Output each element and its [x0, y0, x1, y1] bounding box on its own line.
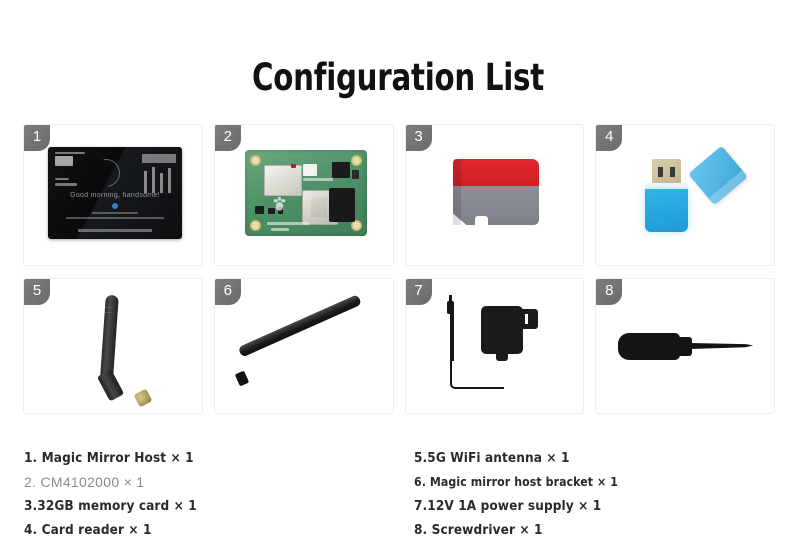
sma-connector	[134, 389, 153, 408]
legend-right-column: 5.5G WiFi antenna × 1 6. Magic mirror ho…	[398, 446, 796, 542]
raspberry-pi-logo-icon	[272, 196, 287, 213]
card-row-1: 1 Go	[23, 124, 775, 266]
rf-shield	[264, 165, 302, 196]
power-supply-image	[406, 279, 584, 413]
product-card-host-bracket[interactable]: 6	[214, 278, 394, 414]
memory-card-image	[406, 125, 584, 265]
configuration-list-page: Configuration List 1	[0, 0, 796, 560]
product-card-power-supply[interactable]: 7	[405, 278, 585, 414]
reader-body	[645, 189, 688, 232]
product-card-grid: 1 Go	[23, 124, 775, 414]
reader-cap	[688, 146, 748, 206]
legend-item-8: 8. Screwdriver × 1	[414, 518, 796, 542]
product-card-wifi-antenna[interactable]: 5	[23, 278, 203, 414]
product-card-compute-module[interactable]: 2	[214, 124, 394, 266]
product-card-memory-card[interactable]: 3	[405, 124, 585, 266]
compute-module-image	[215, 125, 393, 265]
legend-item-7: 7.12V 1A power supply × 1	[414, 494, 796, 518]
adapter-body	[481, 306, 523, 354]
antenna-base	[97, 369, 124, 401]
page-title: Configuration List	[48, 56, 748, 99]
legend-item-1: 1. Magic Mirror Host × 1	[24, 446, 398, 470]
configuration-legend: 1. Magic Mirror Host × 1 2. CM4102000 × …	[0, 446, 796, 542]
legend-item-3: 3.32GB memory card × 1	[24, 494, 398, 518]
product-card-screwdriver[interactable]: 8	[595, 278, 775, 414]
card-badge-6: 6	[215, 279, 241, 305]
screwdriver-image	[596, 279, 774, 413]
card-badge-1: 1	[24, 125, 50, 151]
magic-mirror-host-image: Good morning, handsome!	[24, 125, 202, 265]
weather-arc-icon	[87, 154, 126, 193]
wifi-antenna-image	[24, 279, 202, 413]
adapter-prongs	[522, 309, 538, 329]
card-badge-5: 5	[24, 279, 50, 305]
legend-item-4: 4. Card reader × 1	[24, 518, 398, 542]
legend-left-column: 1. Magic Mirror Host × 1 2. CM4102000 × …	[0, 446, 398, 542]
usb-connector	[652, 159, 681, 185]
pcb-board	[245, 150, 367, 236]
microsd-card	[453, 159, 539, 225]
card-badge-7: 7	[406, 279, 432, 305]
calendar-bars	[142, 157, 176, 193]
ram-chip	[329, 188, 355, 222]
host-bracket-image	[215, 279, 393, 413]
mirror-screen: Good morning, handsome!	[48, 147, 182, 239]
product-card-magic-mirror-host[interactable]: 1 Go	[23, 124, 203, 266]
card-reader-image	[596, 125, 774, 265]
screwdriver-handle	[618, 333, 680, 360]
screwdriver-shaft	[690, 343, 753, 349]
legend-item-6: 6. Magic mirror host bracket × 1	[414, 470, 796, 494]
power-cable	[450, 359, 504, 389]
product-card-card-reader[interactable]: 4	[595, 124, 775, 266]
mirror-indicator-dot	[112, 203, 118, 209]
card-badge-4: 4	[596, 125, 622, 151]
legend-item-2: 2. CM4102000 × 1	[24, 470, 398, 494]
card-badge-8: 8	[596, 279, 622, 305]
card-badge-2: 2	[215, 125, 241, 151]
card-row-2: 5 6 7	[23, 278, 775, 414]
card-badge-3: 3	[406, 125, 432, 151]
bracket-end-cap	[235, 371, 249, 387]
bracket-rod	[238, 294, 362, 357]
legend-item-5: 5.5G WiFi antenna × 1	[414, 446, 796, 470]
mirror-greeting: Good morning, handsome!	[48, 192, 182, 199]
